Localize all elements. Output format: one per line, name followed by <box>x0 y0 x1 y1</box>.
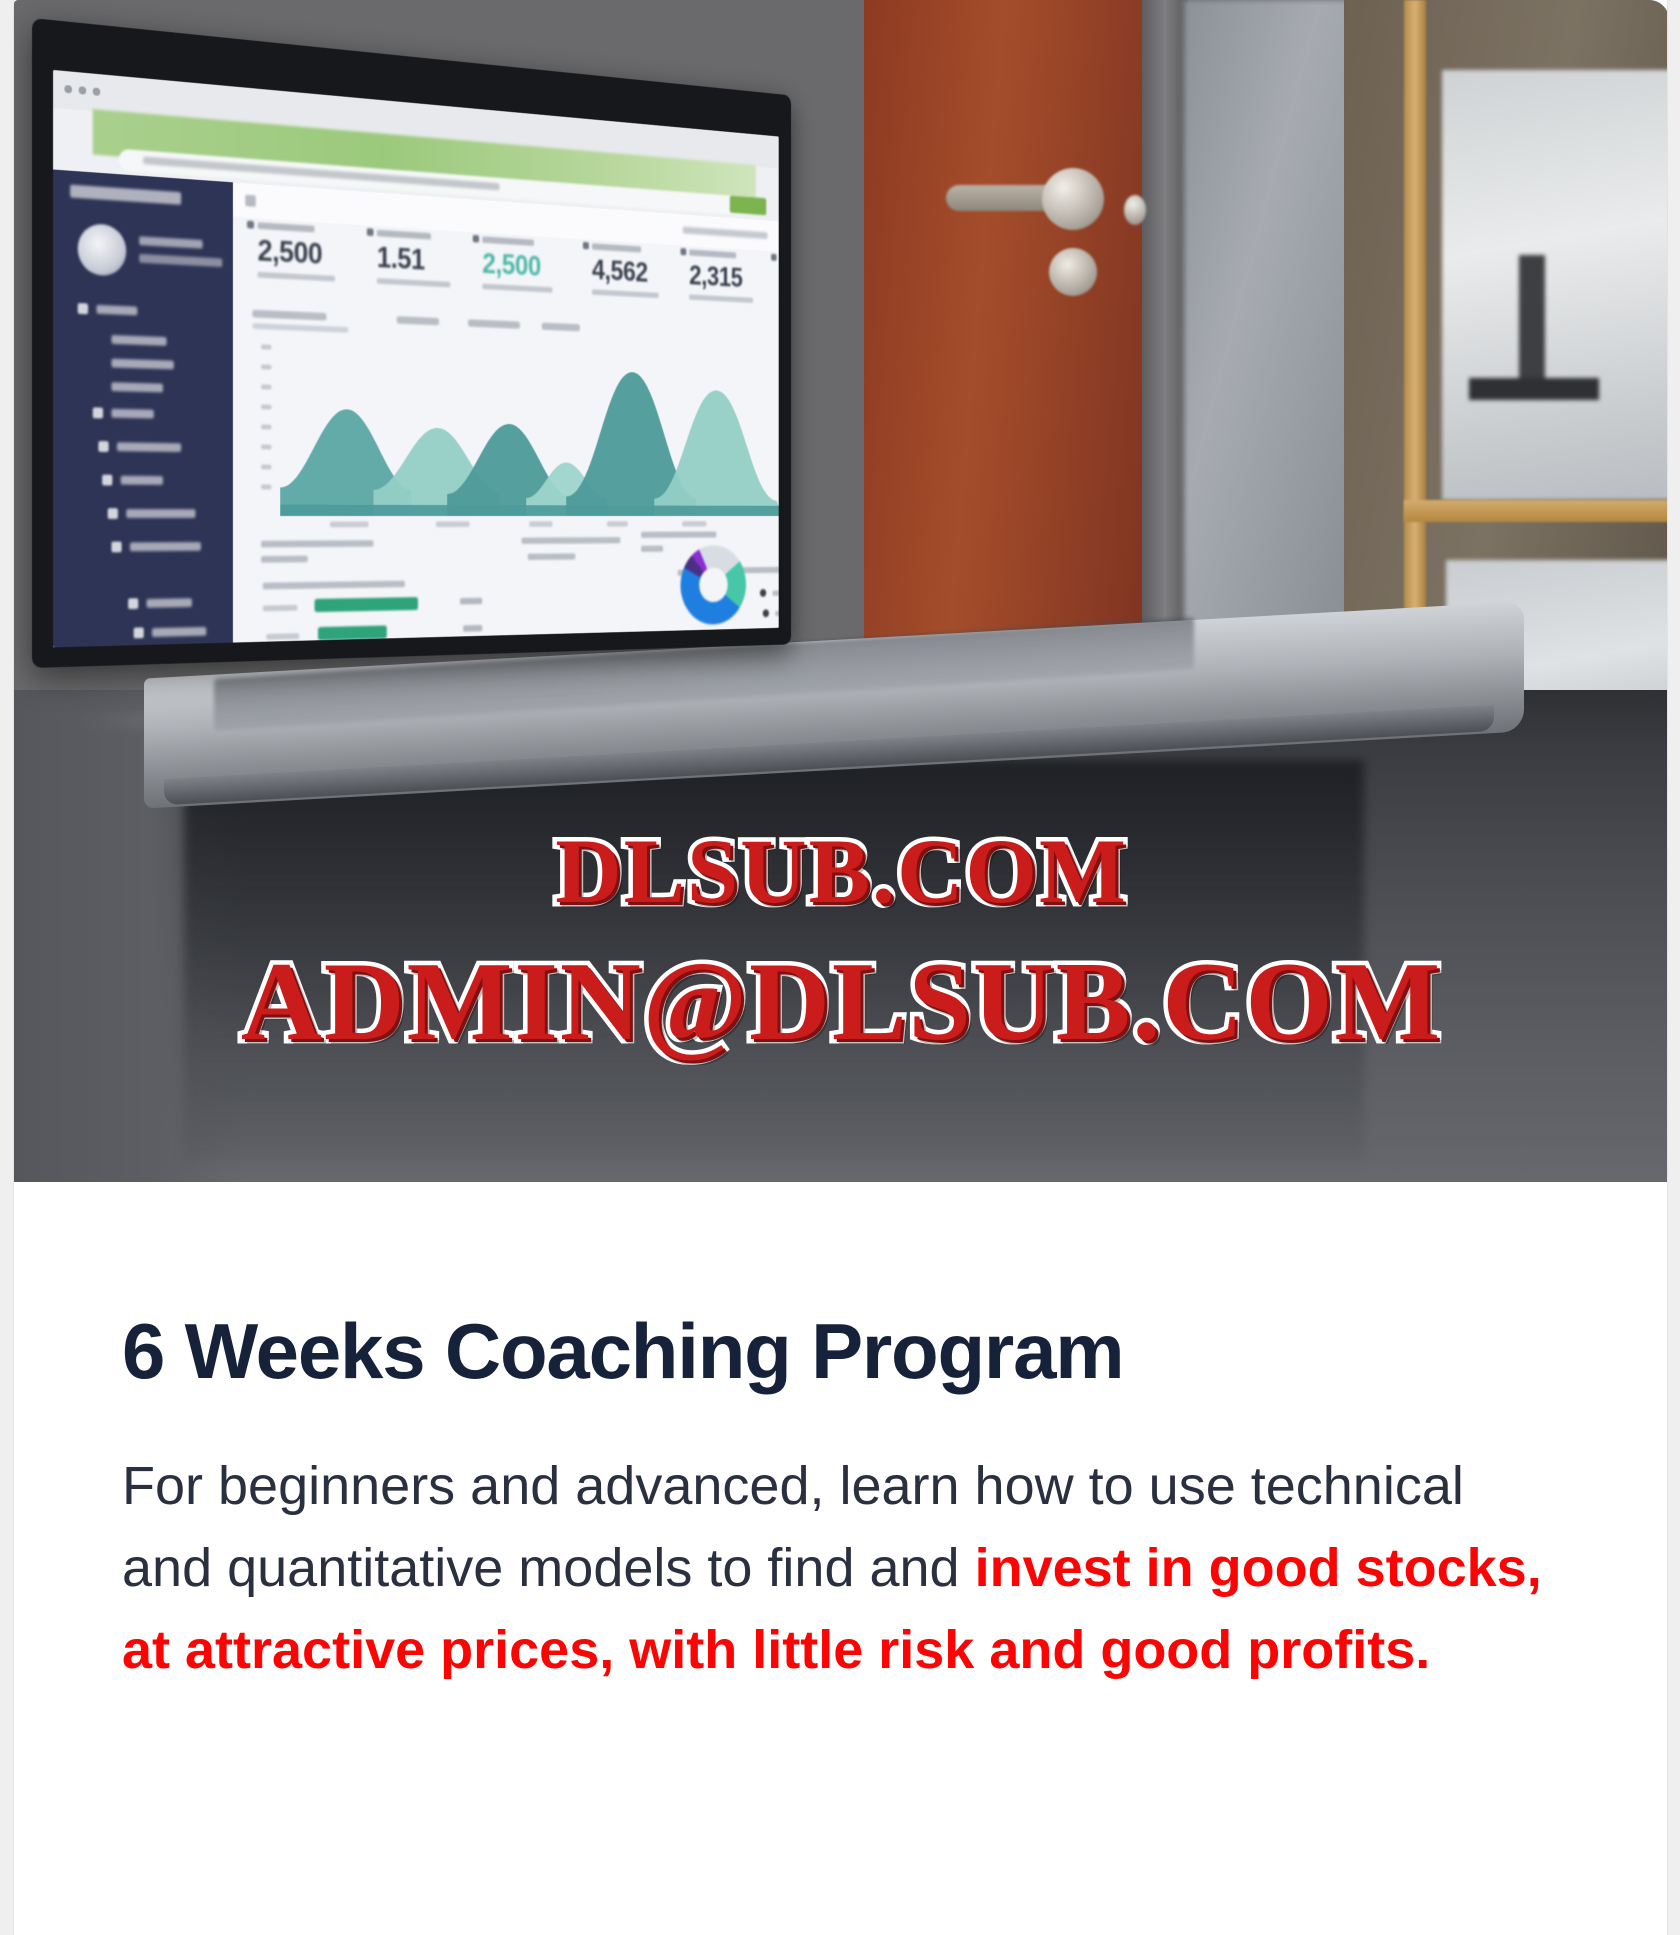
area-chart <box>261 344 779 525</box>
chart-x-axis <box>296 521 779 531</box>
kpi-sublabel <box>592 289 659 298</box>
sidebar-item-sub-3[interactable] <box>111 382 163 392</box>
kpi-sublabel <box>482 284 552 293</box>
background-shelf-opening-upper <box>1442 70 1668 500</box>
sidebar-item-extra[interactable] <box>130 542 201 551</box>
tab-audience[interactable] <box>468 319 520 329</box>
dashboard-main: 2,500 1.51 <box>233 182 779 642</box>
sidebar-item-icon-pages <box>93 407 103 418</box>
sidebar-item-icon-support <box>134 627 144 638</box>
donut-chart <box>681 545 746 625</box>
sidebar-item-sub-2[interactable] <box>111 359 173 370</box>
bar-label <box>266 633 299 640</box>
page-title: 6 Weeks Coaching Program <box>122 1182 1561 1393</box>
background-shelf-rail <box>1404 500 1668 522</box>
kpi-trend-icon <box>681 248 687 255</box>
kpi-trend-icon <box>771 254 777 261</box>
window-controls-icon[interactable] <box>64 85 100 96</box>
sidebar-item-pages[interactable] <box>111 409 153 419</box>
topbar-right-controls[interactable] <box>683 227 768 240</box>
legend-dot-3 <box>766 630 772 638</box>
kpi-label <box>689 249 736 258</box>
area-chart-svg <box>280 345 778 516</box>
article-content: 6 Weeks Coaching Program For beginners a… <box>14 1182 1668 1691</box>
laptop-screen: 2,500 1.51 <box>53 70 779 647</box>
sidebar-item-icon-widgets <box>128 598 138 609</box>
legend-label-1 <box>772 590 778 596</box>
sidebar-item-home[interactable] <box>97 305 138 316</box>
bar-item <box>318 625 387 640</box>
sidebar-item-icon-extra <box>111 542 121 553</box>
door-lock-icon <box>1049 248 1097 296</box>
sidebar-user-role <box>139 254 222 267</box>
widget-aux-right <box>641 531 716 537</box>
dashboard-sidebar <box>53 170 233 648</box>
sidebar-item-tasks[interactable] <box>121 476 163 485</box>
page-description: For beginners and advanced, learn how to… <box>122 1445 1561 1691</box>
kpi-value: 4,562 <box>592 254 648 288</box>
kpi-trend-icon <box>367 228 374 236</box>
background-door-panel-right <box>864 0 1154 720</box>
desk-reflection <box>184 760 1364 1160</box>
bar-value <box>463 625 482 632</box>
tab-overview[interactable] <box>252 310 326 321</box>
kpi-sublabel <box>258 272 335 282</box>
hamburger-menu-icon[interactable] <box>245 195 256 207</box>
kpi-value: 1.51 <box>377 241 425 276</box>
legend-dot-2 <box>763 609 769 617</box>
kpi-value: 2,315 <box>689 260 742 293</box>
kpi-trend-icon <box>583 242 589 249</box>
legend-label-2 <box>775 610 778 616</box>
door-screw-icon <box>1124 195 1146 225</box>
background-shelf-object <box>1519 255 1545 385</box>
avatar[interactable] <box>78 223 127 277</box>
widget-title-right <box>522 537 621 544</box>
door-knob-icon <box>1042 168 1104 230</box>
panel-label-left-top <box>261 540 373 547</box>
tab-reports[interactable] <box>397 316 439 325</box>
widget-aux-right-2 <box>641 546 663 552</box>
panel-label-bars <box>263 581 405 590</box>
kpi-label <box>258 222 315 232</box>
bar-value <box>460 598 482 605</box>
sidebar-item-icon-reports <box>108 508 118 519</box>
tab-overview-sub <box>252 323 348 333</box>
dashboard-app: 2,500 1.51 <box>53 170 779 648</box>
laptop-lid: 2,500 1.51 <box>32 18 791 668</box>
panel-label-left-top-sub <box>261 556 308 563</box>
hero-image: 2,500 1.51 <box>14 0 1668 1182</box>
bar-item <box>315 597 418 612</box>
browser-extension-badge[interactable] <box>730 195 766 215</box>
background-shelf-object-base <box>1469 378 1599 400</box>
article-card: 2,500 1.51 <box>13 0 1668 1935</box>
kpi-value: 2,500 <box>258 234 323 271</box>
widget-subtitle-right <box>528 553 576 560</box>
sidebar-item-icon-home <box>78 303 88 314</box>
chart-y-axis <box>261 344 275 516</box>
sidebar-item-settings[interactable] <box>117 442 181 452</box>
kpi-label <box>482 236 534 246</box>
kpi-card: 2,500 <box>482 236 552 292</box>
kpi-value: 2,500 <box>482 247 541 282</box>
kpi-sublabel <box>377 278 451 287</box>
sidebar-brand <box>70 185 181 205</box>
bar-label <box>263 605 298 611</box>
kpi-label <box>592 243 641 252</box>
legend-label-3 <box>778 630 779 636</box>
kpi-card: 2,500 <box>258 222 335 281</box>
legend-dot-1 <box>760 589 766 597</box>
hero-image-inner: 2,500 1.51 <box>14 0 1668 1182</box>
kpi-card: 1.51 <box>377 230 451 288</box>
kpi-trend-icon <box>247 221 254 229</box>
sidebar-item-support[interactable] <box>152 627 206 637</box>
kpi-card: 4,562 <box>592 243 659 298</box>
sidebar-item-reports[interactable] <box>126 509 195 518</box>
sidebar-item-widgets[interactable] <box>147 598 192 608</box>
tab-settings[interactable] <box>542 323 580 332</box>
kpi-card: 2,315 <box>689 249 753 302</box>
kpi-sublabel <box>689 294 753 302</box>
sidebar-item-icon-tasks <box>102 475 112 486</box>
sidebar-user-name <box>139 236 203 248</box>
sidebar-item-icon-settings <box>98 441 108 452</box>
kpi-label <box>377 230 431 240</box>
kpi-trend-icon <box>473 235 479 243</box>
sidebar-item-sub-1[interactable] <box>111 335 166 346</box>
